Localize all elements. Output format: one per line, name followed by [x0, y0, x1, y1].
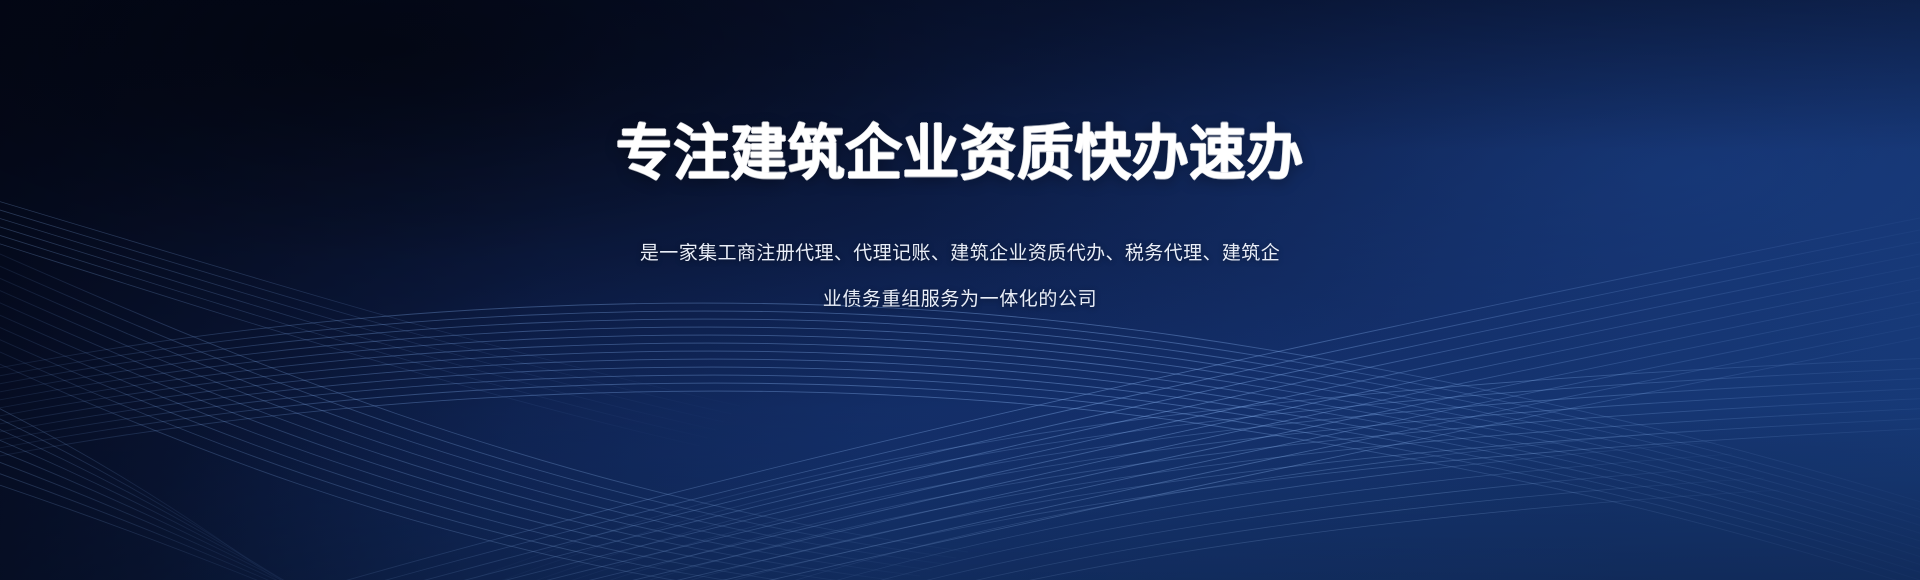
banner-subtitle: 是一家集工商注册代理、代理记账、建筑企业资质代办、税务代理、建筑企 业债务重组服…	[604, 231, 1316, 323]
banner-content: 专注建筑企业资质快办速办 是一家集工商注册代理、代理记账、建筑企业资质代办、税务…	[0, 0, 1920, 580]
banner-subtitle-line-1: 是一家集工商注册代理、代理记账、建筑企业资质代办、税务代理、建筑企	[604, 231, 1316, 277]
banner-headline: 专注建筑企业资质快办速办	[616, 122, 1304, 187]
banner-subtitle-line-2: 业债务重组服务为一体化的公司	[604, 277, 1316, 323]
hero-banner: 专注建筑企业资质快办速办 是一家集工商注册代理、代理记账、建筑企业资质代办、税务…	[0, 0, 1920, 580]
